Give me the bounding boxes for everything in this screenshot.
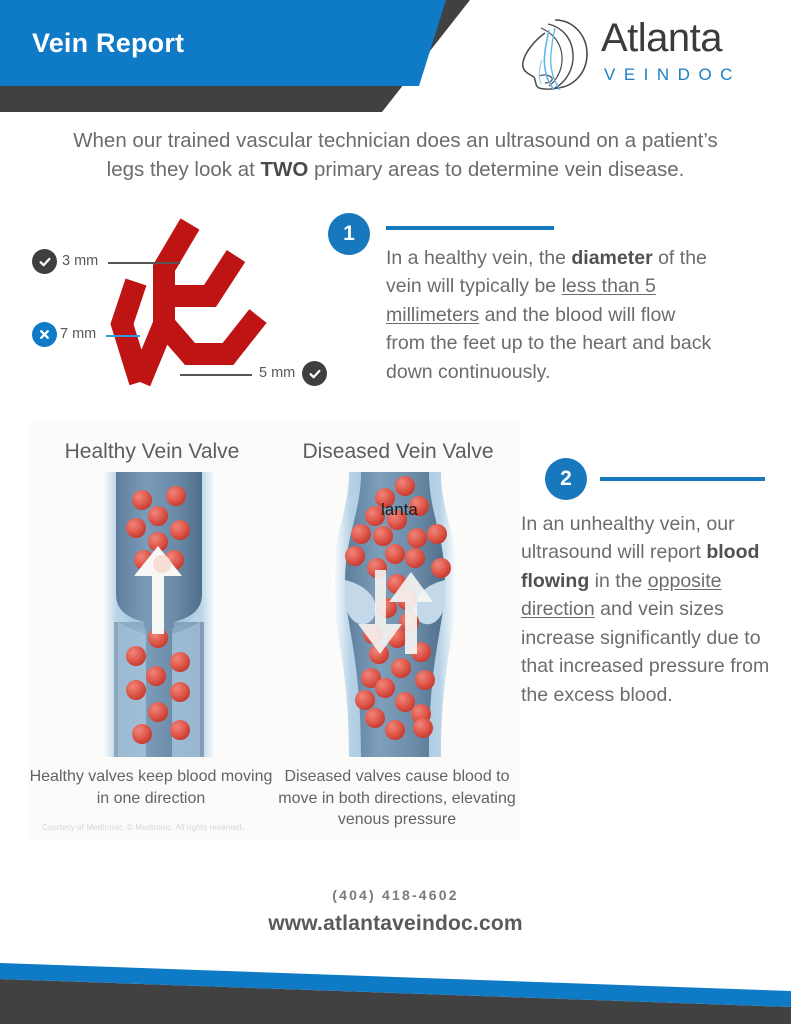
point-text-1: In a healthy vein, the diameter of the v… [386, 244, 716, 386]
healthy-vein-valve-illustration [100, 472, 218, 762]
leader-line-5mm [180, 374, 252, 376]
healthy-valve-heading: Healthy Vein Valve [36, 440, 268, 464]
point-2-part-0: In an unhealthy vein, our ultrasound wil… [521, 513, 735, 563]
point-badge-1: 1 [328, 213, 370, 255]
contact-phone[interactable]: (404) 418-4602 [0, 887, 791, 903]
leader-line-3mm [108, 262, 180, 264]
medtronic-credit: Courtesy of Medtronic. © Medtronic. All … [42, 823, 244, 832]
measurement-label-3mm: 3 mm [62, 253, 98, 269]
intro-emphasis-two: TWO [261, 158, 309, 181]
page-footer [0, 955, 791, 1024]
measurement-label-5mm: 5 mm [259, 365, 295, 381]
intro-line-1: When our trained vascular technician doe… [73, 129, 718, 152]
watermark-text: lanta [381, 500, 418, 520]
vein-diagram: 3 mm 7 mm 5 mm [14, 204, 334, 399]
head-profile-veins-icon [515, 16, 593, 94]
brand-logo[interactable]: Atlanta VEINDOC [515, 14, 765, 98]
intro-line-2-post: primary areas to determine vein disease. [308, 158, 684, 181]
diseased-valve-caption: Diseased valves cause blood to move in b… [274, 766, 520, 831]
check-circle-icon-5mm [302, 361, 327, 386]
point-2-part-2: in the [589, 570, 648, 592]
point-rule-2 [600, 477, 765, 481]
measurement-label-7mm: 7 mm [60, 326, 96, 342]
point-1-part-0: In a healthy vein, the [386, 247, 571, 269]
point-rule-1 [386, 226, 554, 230]
leader-line-7mm [106, 335, 140, 337]
vein-valve-comparison-panel: Healthy Vein Valve Diseased Vein Valve [28, 422, 520, 840]
point-1-part-1: diameter [571, 247, 652, 269]
x-circle-icon-7mm [32, 322, 57, 347]
intro-line-2-pre: legs they look at [107, 158, 261, 181]
logo-wordmark: Atlanta [601, 18, 722, 58]
page-header: Vein Report Atlanta VEINDOC [0, 0, 791, 112]
healthy-valve-caption: Healthy valves keep blood moving in one … [28, 766, 274, 809]
footer-bands [0, 955, 791, 1024]
page-title: Vein Report [32, 28, 184, 59]
point-text-2: In an unhealthy vein, our ultrasound wil… [521, 510, 783, 709]
logo-subtitle: VEINDOC [604, 66, 741, 83]
point-badge-2: 2 [545, 458, 587, 500]
diseased-valve-heading: Diseased Vein Valve [282, 440, 514, 464]
contact-website[interactable]: www.atlantaveindoc.com [0, 912, 791, 936]
intro-paragraph: When our trained vascular technician doe… [14, 126, 777, 184]
check-circle-icon-3mm [32, 249, 57, 274]
